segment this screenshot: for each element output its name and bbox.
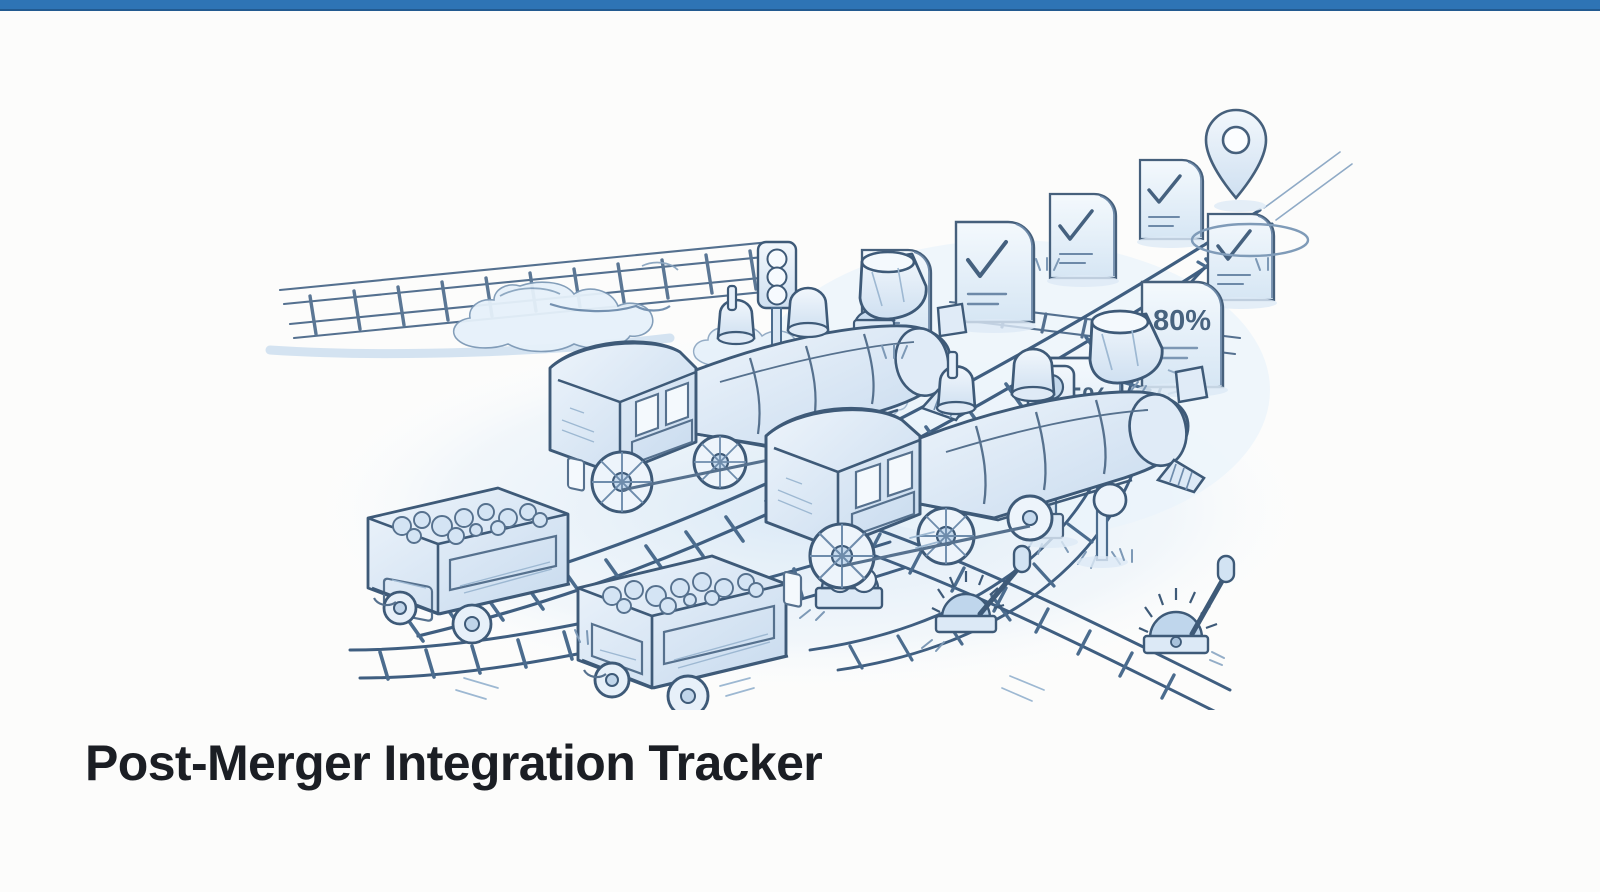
top-accent-bar bbox=[0, 0, 1600, 11]
title-block: Post-Merger Integration Tracker bbox=[85, 736, 1485, 790]
page-title: Post-Merger Integration Tracker bbox=[85, 736, 1485, 790]
merging-railway-tracks-illustration: 80% 75% bbox=[250, 90, 1370, 710]
accent-bar-shadow bbox=[0, 9, 1600, 11]
milestone-80-label: 80% bbox=[1153, 305, 1211, 337]
milestone-marker-3 bbox=[1047, 194, 1119, 287]
presentation-slide: 80% 75% bbox=[0, 0, 1600, 892]
